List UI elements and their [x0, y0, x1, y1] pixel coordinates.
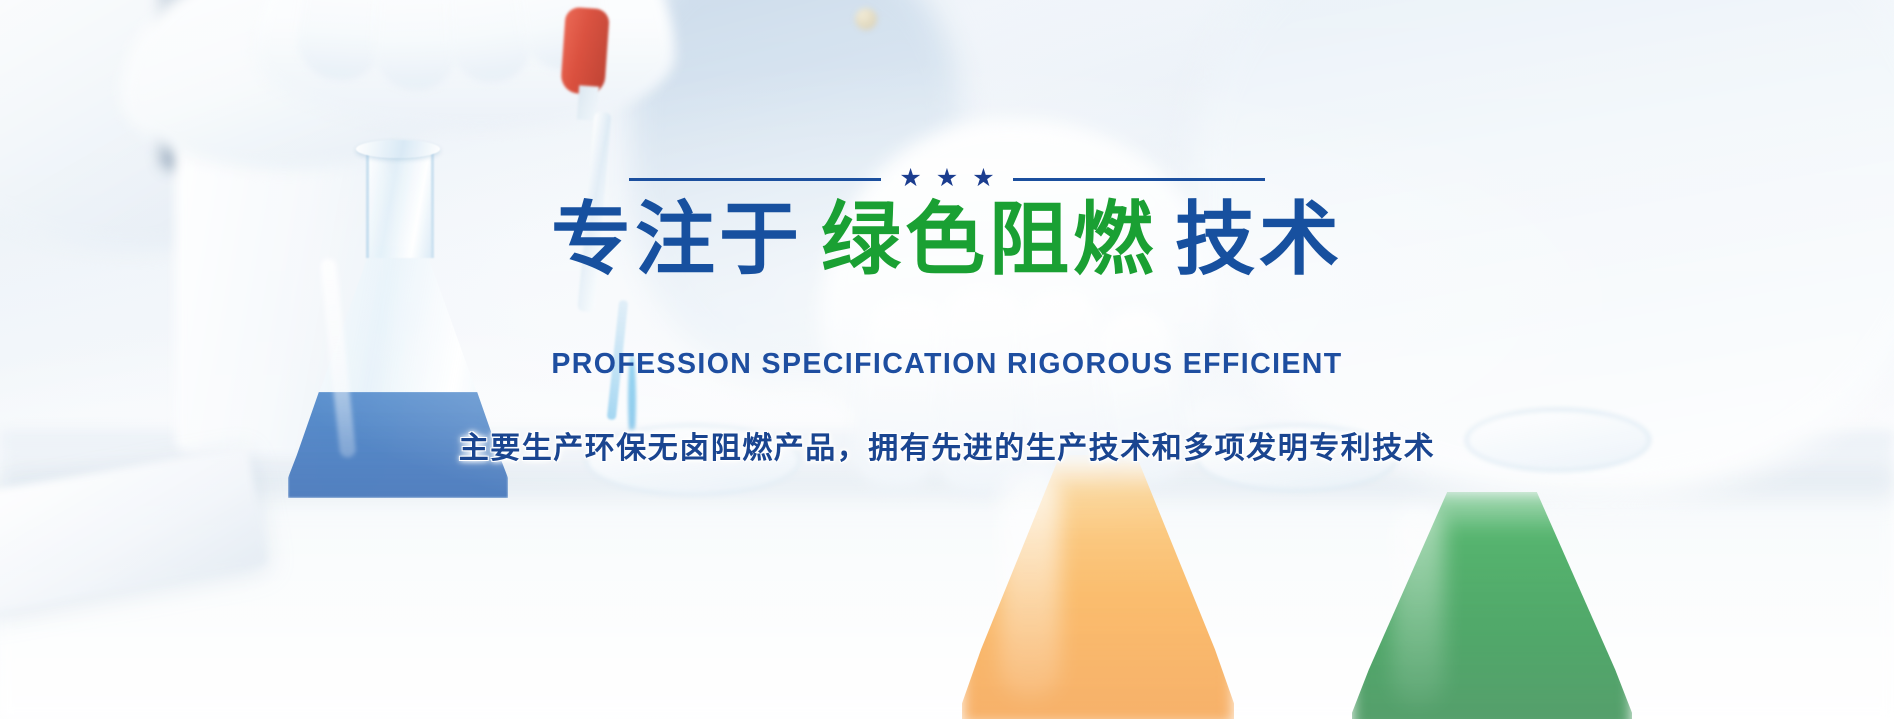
divider-rule-left	[629, 178, 881, 181]
headline-part-2: 绿色阻燃	[821, 193, 1157, 286]
star-icon: ★	[899, 166, 921, 191]
flask-lip	[356, 140, 440, 158]
decorative-divider: ★ ★ ★	[629, 168, 1264, 190]
star-group: ★ ★ ★	[881, 167, 1012, 192]
pipette-bulb-icon	[560, 7, 610, 96]
headline-part-3: 技术	[1175, 193, 1343, 286]
banner-subtitle-english: PROFESSION SPECIFICATION RIGOROUS EFFICI…	[551, 348, 1342, 381]
divider-rule-right	[1013, 178, 1265, 181]
flask-highlight	[1392, 506, 1444, 706]
star-icon: ★	[936, 166, 958, 191]
headline-part-1: 专注于	[551, 193, 803, 286]
hero-banner: ★ ★ ★ 专注于绿色阻燃技术 PROFESSION SPECIFICATION…	[0, 0, 1894, 719]
banner-headline: 专注于绿色阻燃技术	[551, 198, 1343, 283]
banner-content: ★ ★ ★ 专注于绿色阻燃技术 PROFESSION SPECIFICATION…	[0, 168, 1894, 467]
banner-description: 主要生产环保无卤阻燃产品，拥有先进的生产技术和多项发明专利技术	[459, 423, 1436, 467]
star-icon: ★	[972, 166, 994, 191]
shirt-button	[855, 8, 877, 30]
flask-highlight	[1000, 470, 1060, 700]
